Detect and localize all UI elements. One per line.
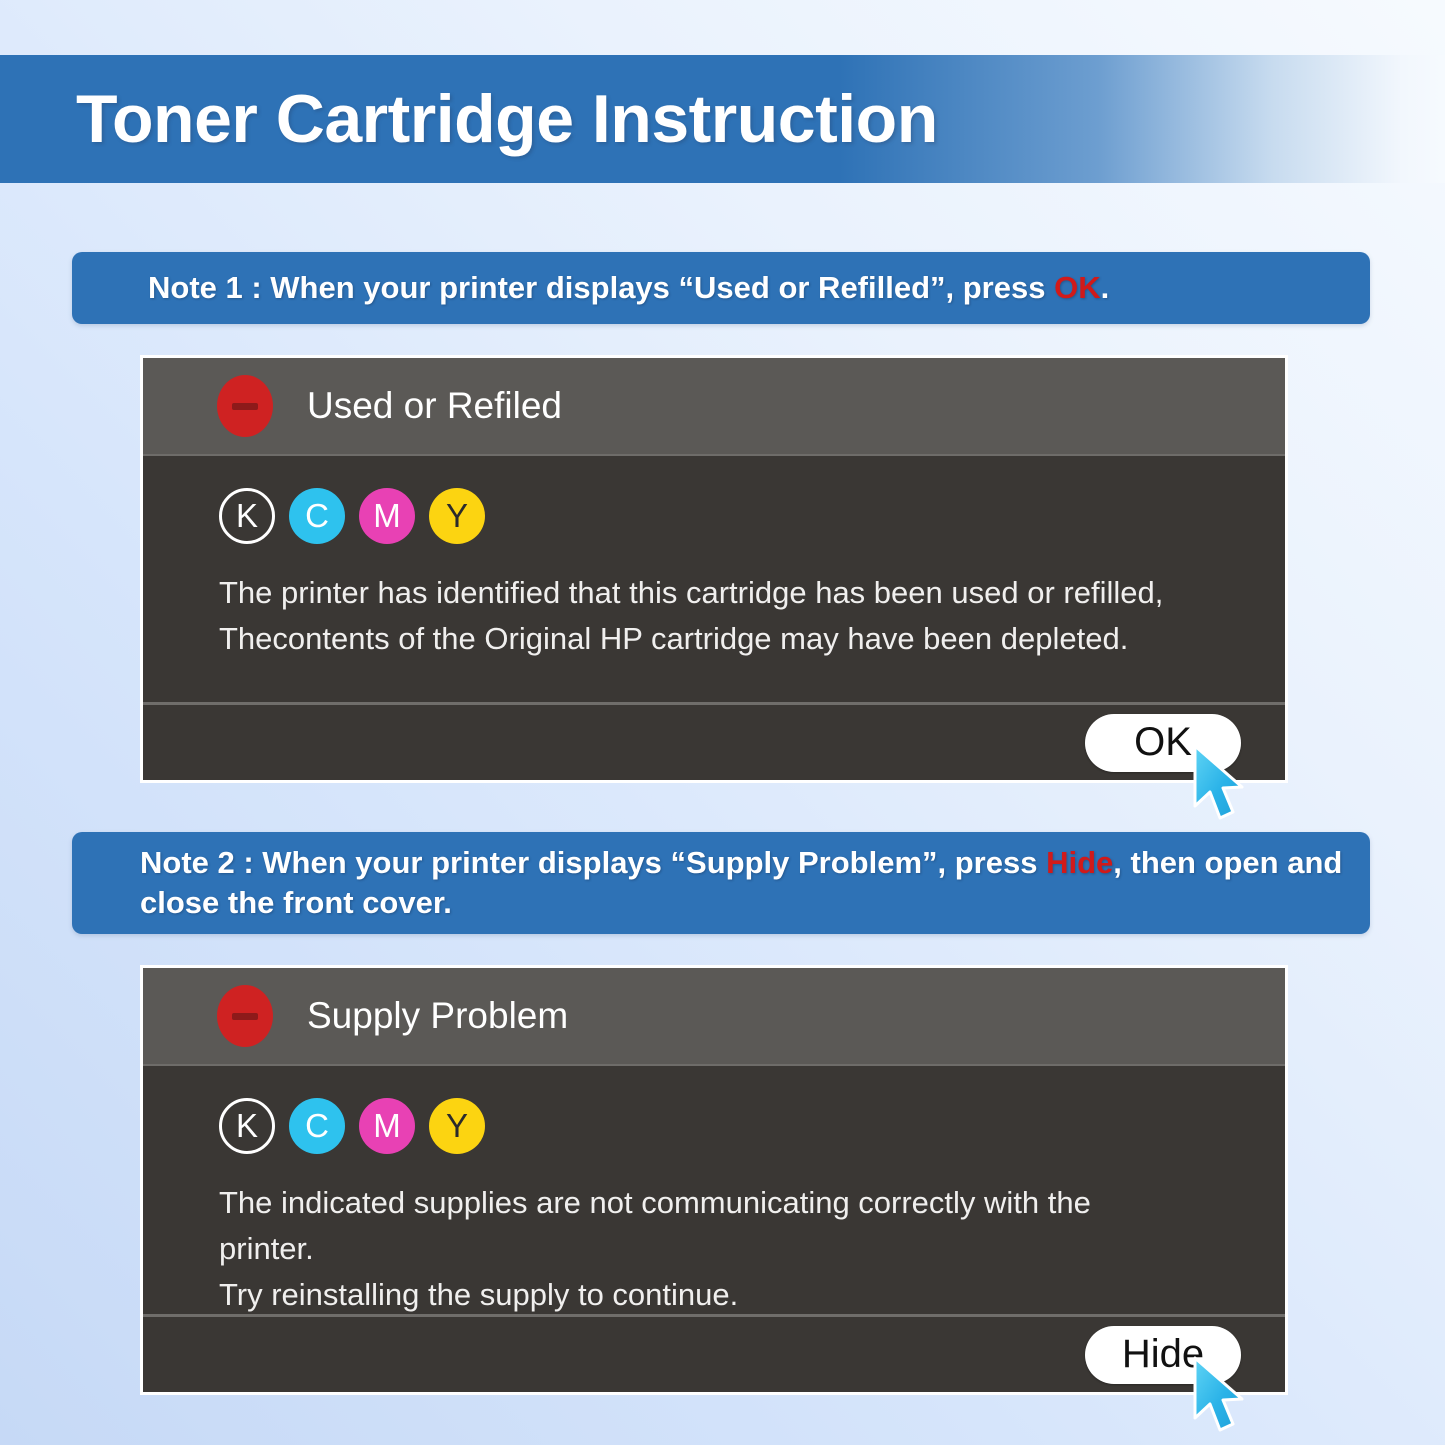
note-1-suffix: . — [1101, 270, 1110, 305]
dialog-2-message: The indicated supplies are not communica… — [219, 1180, 1179, 1318]
dialog-2-body: K C M Y The indicated supplies are not c… — [143, 1066, 1285, 1318]
dialog-2-title: Supply Problem — [307, 995, 568, 1037]
magenta-toner-indicator[interactable]: M — [359, 488, 415, 544]
note-1-accent: OK — [1054, 270, 1101, 305]
cyan-toner-indicator[interactable]: C — [289, 488, 345, 544]
printer-dialog-supply-problem: Supply Problem K C M Y The indicated sup… — [140, 965, 1288, 1395]
printer-dialog-used-or-refiled: Used or Refiled K C M Y The printer has … — [140, 355, 1288, 783]
note-1-prefix: Note 1 : When your printer displays “Use… — [148, 270, 1054, 305]
note-1-banner: Note 1 : When your printer displays “Use… — [72, 252, 1370, 324]
dialog-1-message: The printer has identified that this car… — [219, 570, 1179, 662]
yellow-toner-label: Y — [446, 1107, 468, 1145]
yellow-toner-indicator[interactable]: Y — [429, 1098, 485, 1154]
magenta-toner-label: M — [373, 497, 401, 535]
black-toner-indicator[interactable]: K — [219, 488, 275, 544]
hide-button[interactable]: Hide — [1085, 1326, 1241, 1384]
dialog-2-header: Supply Problem — [143, 968, 1285, 1066]
yellow-toner-label: Y — [446, 497, 468, 535]
cyan-toner-label: C — [305, 1107, 329, 1145]
ok-button[interactable]: OK — [1085, 714, 1241, 772]
dialog-2-supply-indicators: K C M Y — [219, 1098, 1285, 1154]
note-2-text: Note 2 : When your printer displays “Sup… — [72, 843, 1370, 922]
instruction-poster: Toner Cartridge Instruction Note 1 : Whe… — [0, 0, 1445, 1445]
page-header-banner: Toner Cartridge Instruction — [0, 55, 1445, 183]
page-title: Toner Cartridge Instruction — [76, 85, 938, 153]
cyan-toner-label: C — [305, 497, 329, 535]
yellow-toner-indicator[interactable]: Y — [429, 488, 485, 544]
dialog-1-footer: OK — [143, 702, 1285, 780]
magenta-toner-indicator[interactable]: M — [359, 1098, 415, 1154]
minus-circle-icon — [217, 985, 273, 1047]
note-1-text: Note 1 : When your printer displays “Use… — [72, 268, 1133, 308]
cyan-toner-indicator[interactable]: C — [289, 1098, 345, 1154]
black-toner-label: K — [236, 1107, 258, 1145]
dialog-1-header: Used or Refiled — [143, 358, 1285, 456]
black-toner-label: K — [236, 497, 258, 535]
dialog-1-title: Used or Refiled — [307, 385, 562, 427]
minus-glyph — [232, 1013, 258, 1020]
minus-glyph — [232, 403, 258, 410]
dialog-1-supply-indicators: K C M Y — [219, 488, 1285, 544]
dialog-2-footer: Hide — [143, 1314, 1285, 1392]
note-2-banner: Note 2 : When your printer displays “Sup… — [72, 832, 1370, 934]
note-2-accent: Hide — [1046, 845, 1113, 880]
minus-circle-icon — [217, 375, 273, 437]
dialog-1-body: K C M Y The printer has identified that … — [143, 456, 1285, 662]
note-2-prefix: Note 2 : When your printer displays “Sup… — [140, 845, 1046, 880]
black-toner-indicator[interactable]: K — [219, 1098, 275, 1154]
magenta-toner-label: M — [373, 1107, 401, 1145]
